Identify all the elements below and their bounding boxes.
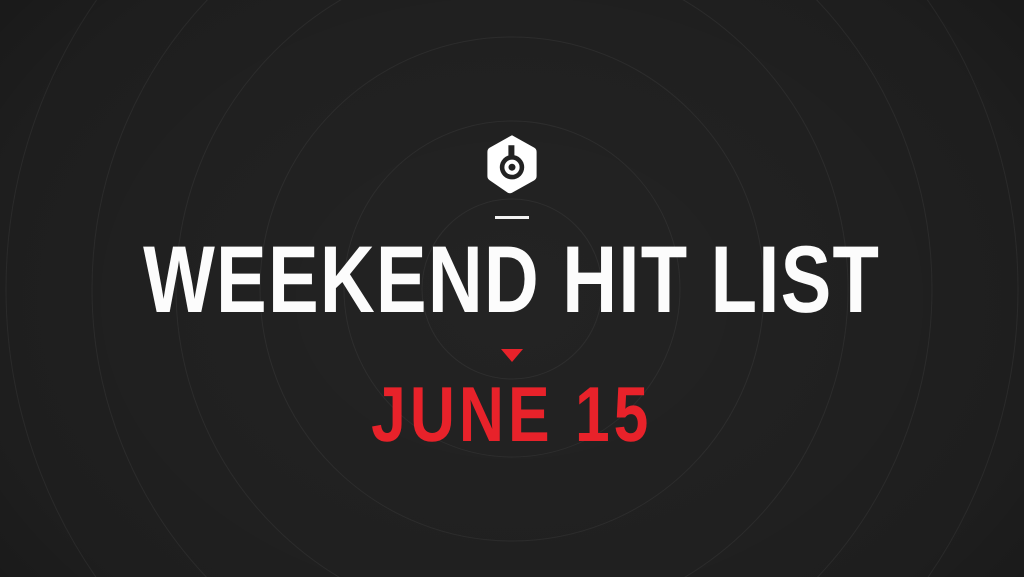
title-divider xyxy=(495,216,529,219)
poster-content: WEEKEND HIT LIST JUNE 15 xyxy=(0,0,1024,577)
poster-canvas: WEEKEND HIT LIST JUNE 15 xyxy=(0,0,1024,577)
page-title: WEEKEND HIT LIST xyxy=(144,234,881,327)
beats-hexagon-logo xyxy=(481,133,543,195)
triangle-down-icon xyxy=(501,349,523,362)
date-label: JUNE 15 xyxy=(371,375,652,453)
